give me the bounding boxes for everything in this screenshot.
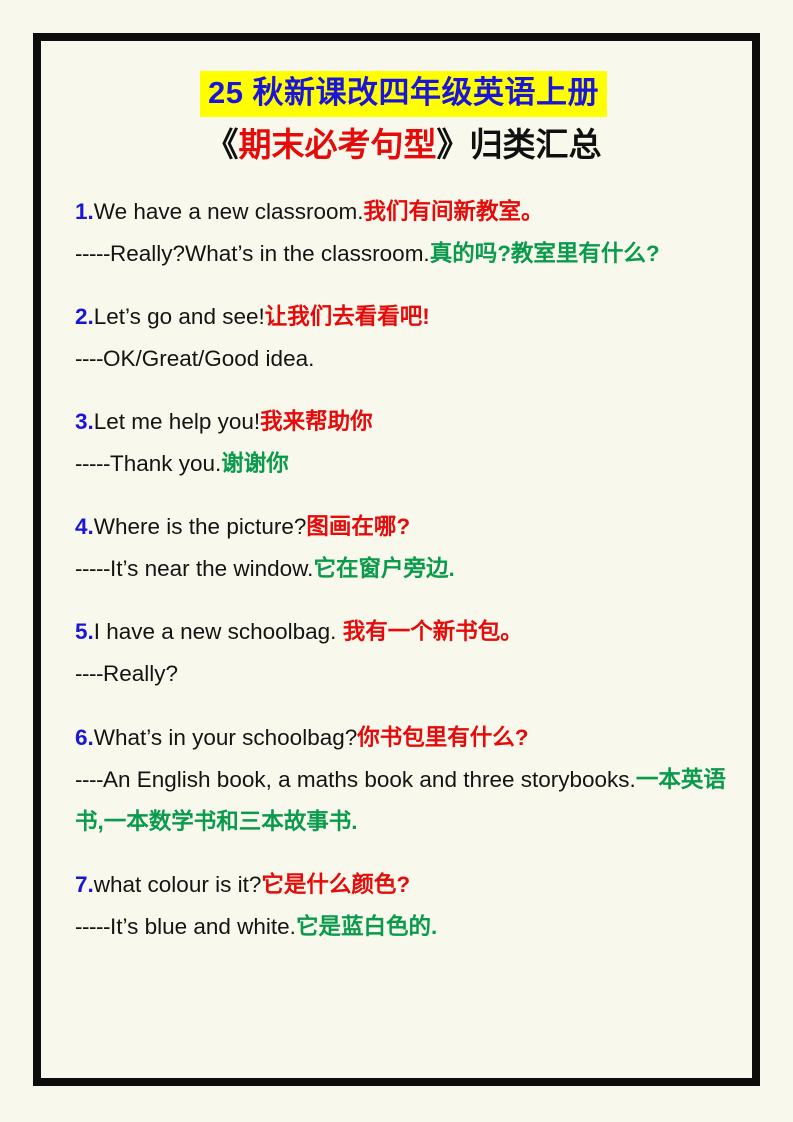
- sentence-pattern-item: 1.We have a new classroom.我们有间新教室。-----R…: [75, 191, 732, 275]
- title-emphasis: 期末必考句型: [239, 126, 437, 163]
- title-suffix: 归类汇总: [470, 126, 602, 163]
- question-line: 3.Let me help you!我来帮助你: [75, 401, 732, 443]
- item-number: 7.: [75, 872, 94, 897]
- english-text: Where is the picture?: [94, 514, 307, 539]
- english-text: what colour is it?: [94, 872, 262, 897]
- chinese-translation-red: 它是什么颜色?: [261, 872, 410, 897]
- chinese-translation-red: 图画在哪?: [306, 514, 410, 539]
- page-border-frame: 25 秋新课改四年级英语上册 《期末必考句型》归类汇总 1.We have a …: [33, 33, 760, 1086]
- item-number: 2.: [75, 304, 94, 329]
- question-line: 7.what colour is it?它是什么颜色?: [75, 864, 732, 906]
- english-text: Let’s go and see!: [94, 304, 265, 329]
- question-line: 5.I have a new schoolbag. 我有一个新书包。: [75, 611, 732, 653]
- chinese-translation-red: 我们有间新教室。: [363, 199, 543, 224]
- item-number: 4.: [75, 514, 94, 539]
- item-number: 6.: [75, 725, 94, 750]
- answer-line: -----Thank you.谢谢你: [75, 443, 732, 485]
- question-line: 2.Let’s go and see!让我们去看看吧!: [75, 296, 732, 338]
- dash-prefix: ----: [75, 346, 103, 371]
- chinese-translation-green: 谢谢你: [221, 451, 289, 476]
- english-text: OK/Great/Good idea.: [103, 346, 314, 371]
- answer-line: -----It’s blue and white.它是蓝白色的.: [75, 906, 732, 948]
- chinese-translation-green: 它在窗户旁边.: [313, 556, 454, 581]
- item-number: 5.: [75, 619, 94, 644]
- answer-line: -----Really?What’s in the classroom.真的吗?…: [75, 233, 732, 275]
- question-line: 4.Where is the picture?图画在哪?: [75, 506, 732, 548]
- answer-line: ----OK/Great/Good idea.: [75, 338, 732, 380]
- sentence-pattern-item: 3.Let me help you!我来帮助你-----Thank you.谢谢…: [75, 401, 732, 485]
- chinese-translation-green: 它是蓝白色的.: [296, 914, 437, 939]
- chinese-translation-green: 真的吗?教室里有什么?: [430, 241, 660, 266]
- item-number: 3.: [75, 409, 94, 434]
- sentence-pattern-item: 6.What’s in your schoolbag?你书包里有什么?----A…: [75, 717, 732, 843]
- dash-prefix: ----: [75, 767, 103, 792]
- answer-line: ----Really?: [75, 653, 732, 695]
- question-line: 6.What’s in your schoolbag?你书包里有什么?: [75, 717, 732, 759]
- english-text: Let me help you!: [94, 409, 260, 434]
- english-text: Really?: [103, 661, 178, 686]
- chinese-translation-red: 让我们去看看吧!: [265, 304, 430, 329]
- english-text: An English book, a maths book and three …: [103, 767, 636, 792]
- dash-prefix: -----: [75, 241, 110, 266]
- title-bracket-open: 《: [206, 126, 239, 163]
- dash-prefix: -----: [75, 556, 110, 581]
- sentence-pattern-item: 5.I have a new schoolbag. 我有一个新书包。----Re…: [75, 611, 732, 695]
- title-line-1-highlighted: 25 秋新课改四年级英语上册: [200, 71, 607, 117]
- chinese-translation-red: 我来帮助你: [260, 409, 373, 434]
- sentence-pattern-item: 7.what colour is it?它是什么颜色?-----It’s blu…: [75, 864, 732, 948]
- english-text: Really?What’s in the classroom.: [110, 241, 430, 266]
- title-line-2: 《期末必考句型》归类汇总: [75, 124, 732, 165]
- sentence-pattern-list: 1.We have a new classroom.我们有间新教室。-----R…: [75, 191, 732, 948]
- chinese-translation-red: 你书包里有什么?: [357, 725, 528, 750]
- sentence-pattern-item: 2.Let’s go and see!让我们去看看吧!----OK/Great/…: [75, 296, 732, 380]
- question-line: 1.We have a new classroom.我们有间新教室。: [75, 191, 732, 233]
- answer-line: ----An English book, a maths book and th…: [75, 759, 732, 843]
- dash-prefix: ----: [75, 661, 103, 686]
- english-text: It’s near the window.: [110, 556, 313, 581]
- dash-prefix: -----: [75, 914, 110, 939]
- english-text: It’s blue and white.: [110, 914, 296, 939]
- page-content: 25 秋新课改四年级英语上册 《期末必考句型》归类汇总 1.We have a …: [41, 41, 752, 1078]
- english-text: Thank you.: [110, 451, 221, 476]
- dash-prefix: -----: [75, 451, 110, 476]
- answer-line: -----It’s near the window.它在窗户旁边.: [75, 548, 732, 590]
- english-text: We have a new classroom.: [94, 199, 364, 224]
- title-bracket-close: 》: [437, 126, 470, 163]
- chinese-translation-red: 我有一个新书包。: [343, 619, 523, 644]
- sentence-pattern-item: 4.Where is the picture?图画在哪?-----It’s ne…: [75, 506, 732, 590]
- worksheet-page: 25 秋新课改四年级英语上册 《期末必考句型》归类汇总 1.We have a …: [0, 0, 793, 1122]
- title-block: 25 秋新课改四年级英语上册 《期末必考句型》归类汇总: [75, 71, 732, 165]
- item-number: 1.: [75, 199, 94, 224]
- english-text: I have a new schoolbag.: [94, 619, 343, 644]
- english-text: What’s in your schoolbag?: [94, 725, 358, 750]
